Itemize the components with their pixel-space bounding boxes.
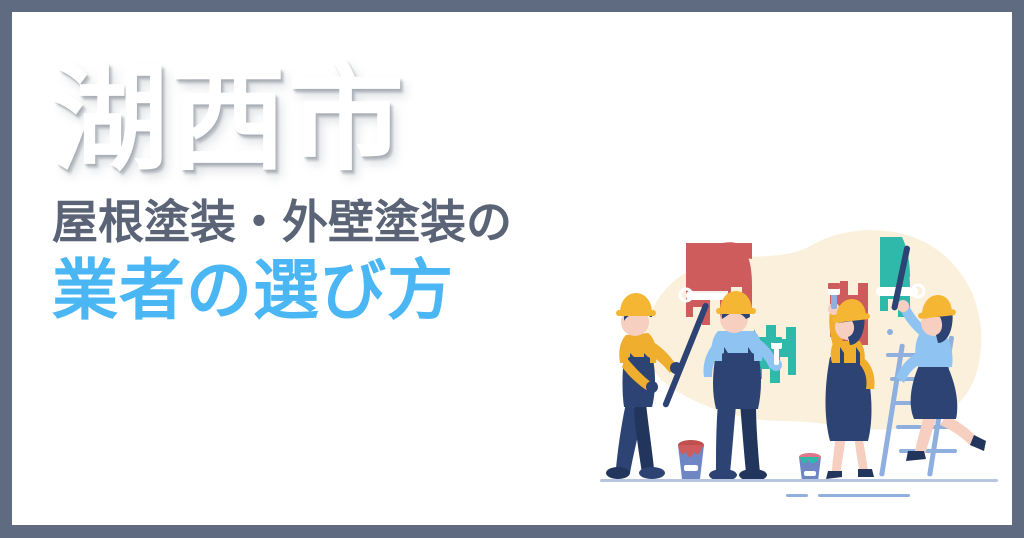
subtitle-how-to-choose: 業者の選び方 bbox=[52, 252, 612, 330]
headline-block: 湖西市 屋根塗装・外壁塗装の 業者の選び方 bbox=[52, 58, 612, 330]
floor-dashes bbox=[786, 494, 910, 497]
banner-canvas: 湖西市 屋根塗装・外壁塗装の 業者の選び方 bbox=[12, 12, 1012, 525]
banner-frame: 湖西市 屋根塗装・外壁塗装の 業者の選び方 bbox=[0, 0, 1024, 538]
page-title: 湖西市 bbox=[52, 58, 612, 181]
hard-hat-icon bbox=[616, 293, 656, 316]
paint-bucket-red bbox=[678, 440, 704, 479]
house-painters-illustration bbox=[590, 207, 1010, 507]
paint-bucket-teal bbox=[799, 453, 821, 481]
ground-line bbox=[600, 479, 998, 482]
subtitle-services: 屋根塗装・外壁塗装の bbox=[52, 195, 612, 250]
